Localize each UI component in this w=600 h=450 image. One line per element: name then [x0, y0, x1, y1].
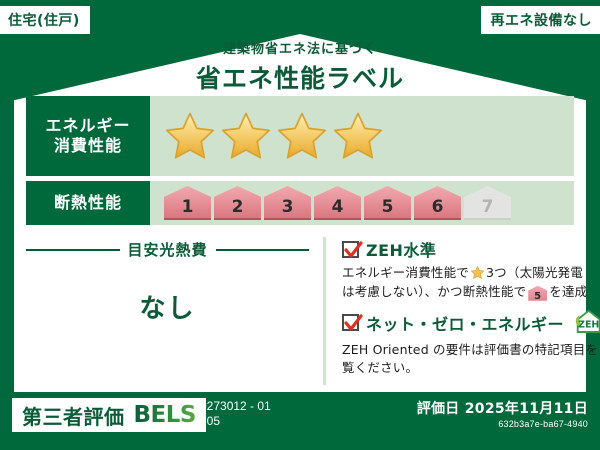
evaluation-date: 評価日 2025年11月11日 — [417, 398, 588, 418]
zeh-section: ZEH水準 エネルギー消費性能で3つ（太陽光発電は考慮しない）、かつ断熱性能で5… — [326, 237, 600, 385]
utility-cost-header: 目安光熱費 — [26, 239, 309, 260]
energy-label-line2: 消費性能 — [54, 136, 122, 156]
certificate-number-line1: 0273012 - 01 — [200, 399, 271, 414]
star-icon — [332, 110, 384, 162]
inline-grade-badge: 5 — [528, 286, 547, 301]
content-area: エネルギー 消費性能 断熱性能 1234567 目安光熱費 なし — [26, 96, 574, 388]
insulation-performance-row: 断熱性能 1234567 — [26, 181, 574, 225]
renewable-energy-tag: 再エネ設備なし — [481, 6, 600, 34]
insulation-grade-2: 2 — [214, 186, 261, 220]
zeh-standard-title: ZEH水準 — [366, 237, 436, 261]
zeh-standard-checkbox[interactable] — [342, 241, 359, 258]
rule-left — [26, 249, 120, 251]
star-icon — [276, 110, 328, 162]
bels-logo: 第三者評価 BELS — [12, 398, 206, 432]
insulation-grade-5: 5 — [364, 186, 411, 220]
zeh-desc-part3: を達成 — [549, 284, 587, 299]
star-icon — [220, 110, 272, 162]
footer: 第三者評価 BELS 0273012 - 01 205 評価日 2025年11月… — [0, 392, 600, 450]
grade-number: 3 — [282, 197, 294, 217]
grade-number: 4 — [332, 197, 344, 217]
lower-section: 目安光熱費 なし ZEH水準 — [26, 237, 574, 385]
zeh-net-zero-title: ネット・ゼロ・エネルギー — [366, 311, 564, 335]
bels-label-jp: 第三者評価 — [22, 401, 125, 430]
zeh-desc-part2: は考慮しない）、かつ断熱性能で — [342, 284, 526, 299]
zeh-net-zero-description: ZEH Oriented の要件は評価書の特記項目をご覧ください。 — [342, 341, 600, 379]
rule-right — [216, 249, 310, 251]
insulation-grade-3: 3 — [264, 186, 311, 220]
inline-star-icon — [470, 265, 485, 280]
grade-number: 1 — [182, 197, 194, 217]
utility-cost-value: なし — [26, 288, 309, 325]
insulation-grade-scale: 1234567 — [164, 186, 511, 220]
insulation-grade-6: 6 — [414, 186, 461, 220]
building-type-tag: 住宅(住戸) — [0, 6, 90, 34]
zeh-item-standard: ZEH水準 エネルギー消費性能で3つ（太陽光発電は考慮しない）、かつ断熱性能で5… — [342, 237, 600, 302]
insulation-performance-label-cell: 断熱性能 — [26, 181, 150, 225]
zeh-net-zero-checkbox[interactable] — [342, 314, 359, 331]
zeh-standard-description: エネルギー消費性能で3つ（太陽光発電は考慮しない）、かつ断熱性能で5を達成 — [342, 264, 600, 302]
utility-cost-title: 目安光熱費 — [128, 239, 208, 260]
insulation-grade-1: 1 — [164, 186, 211, 220]
insulation-grade-4: 4 — [314, 186, 361, 220]
insulation-grade-7: 7 — [464, 186, 511, 220]
energy-label-line1: エネルギー — [45, 116, 130, 136]
certificate-number: 0273012 - 01 205 — [200, 399, 271, 429]
zeh-desc-stars: 3つ（太陽光発電 — [486, 265, 583, 280]
energy-performance-row: エネルギー 消費性能 — [26, 96, 574, 176]
zeh-house-logo-icon: ZEH ZEH Planner — [573, 308, 600, 338]
grade-number: 2 — [232, 197, 244, 217]
star-icon — [164, 110, 216, 162]
grade-number: 6 — [432, 197, 444, 217]
energy-performance-label: 住宅(住戸) 再エネ設備なし 建築物省エネ法に基づく 省エネ性能ラベル エネルギ… — [0, 0, 600, 450]
svg-text:ZEH: ZEH — [578, 319, 599, 330]
grade-number: 7 — [482, 197, 494, 217]
star-rating — [150, 96, 574, 176]
grade-number: 5 — [382, 197, 394, 217]
zeh-desc-part1: エネルギー消費性能で — [342, 265, 469, 280]
document-hash: 632b3a7e-ba67-4940 — [498, 419, 588, 429]
bels-label-en: BELS — [134, 402, 196, 428]
utility-cost-section: 目安光熱費 なし — [26, 237, 326, 385]
zeh-item-net-zero: ネット・ゼロ・エネルギー ZEH ZEH Planner ZEH Oriente… — [342, 308, 600, 379]
certificate-number-line2: 205 — [200, 414, 271, 429]
energy-performance-label-cell: エネルギー 消費性能 — [26, 96, 150, 176]
